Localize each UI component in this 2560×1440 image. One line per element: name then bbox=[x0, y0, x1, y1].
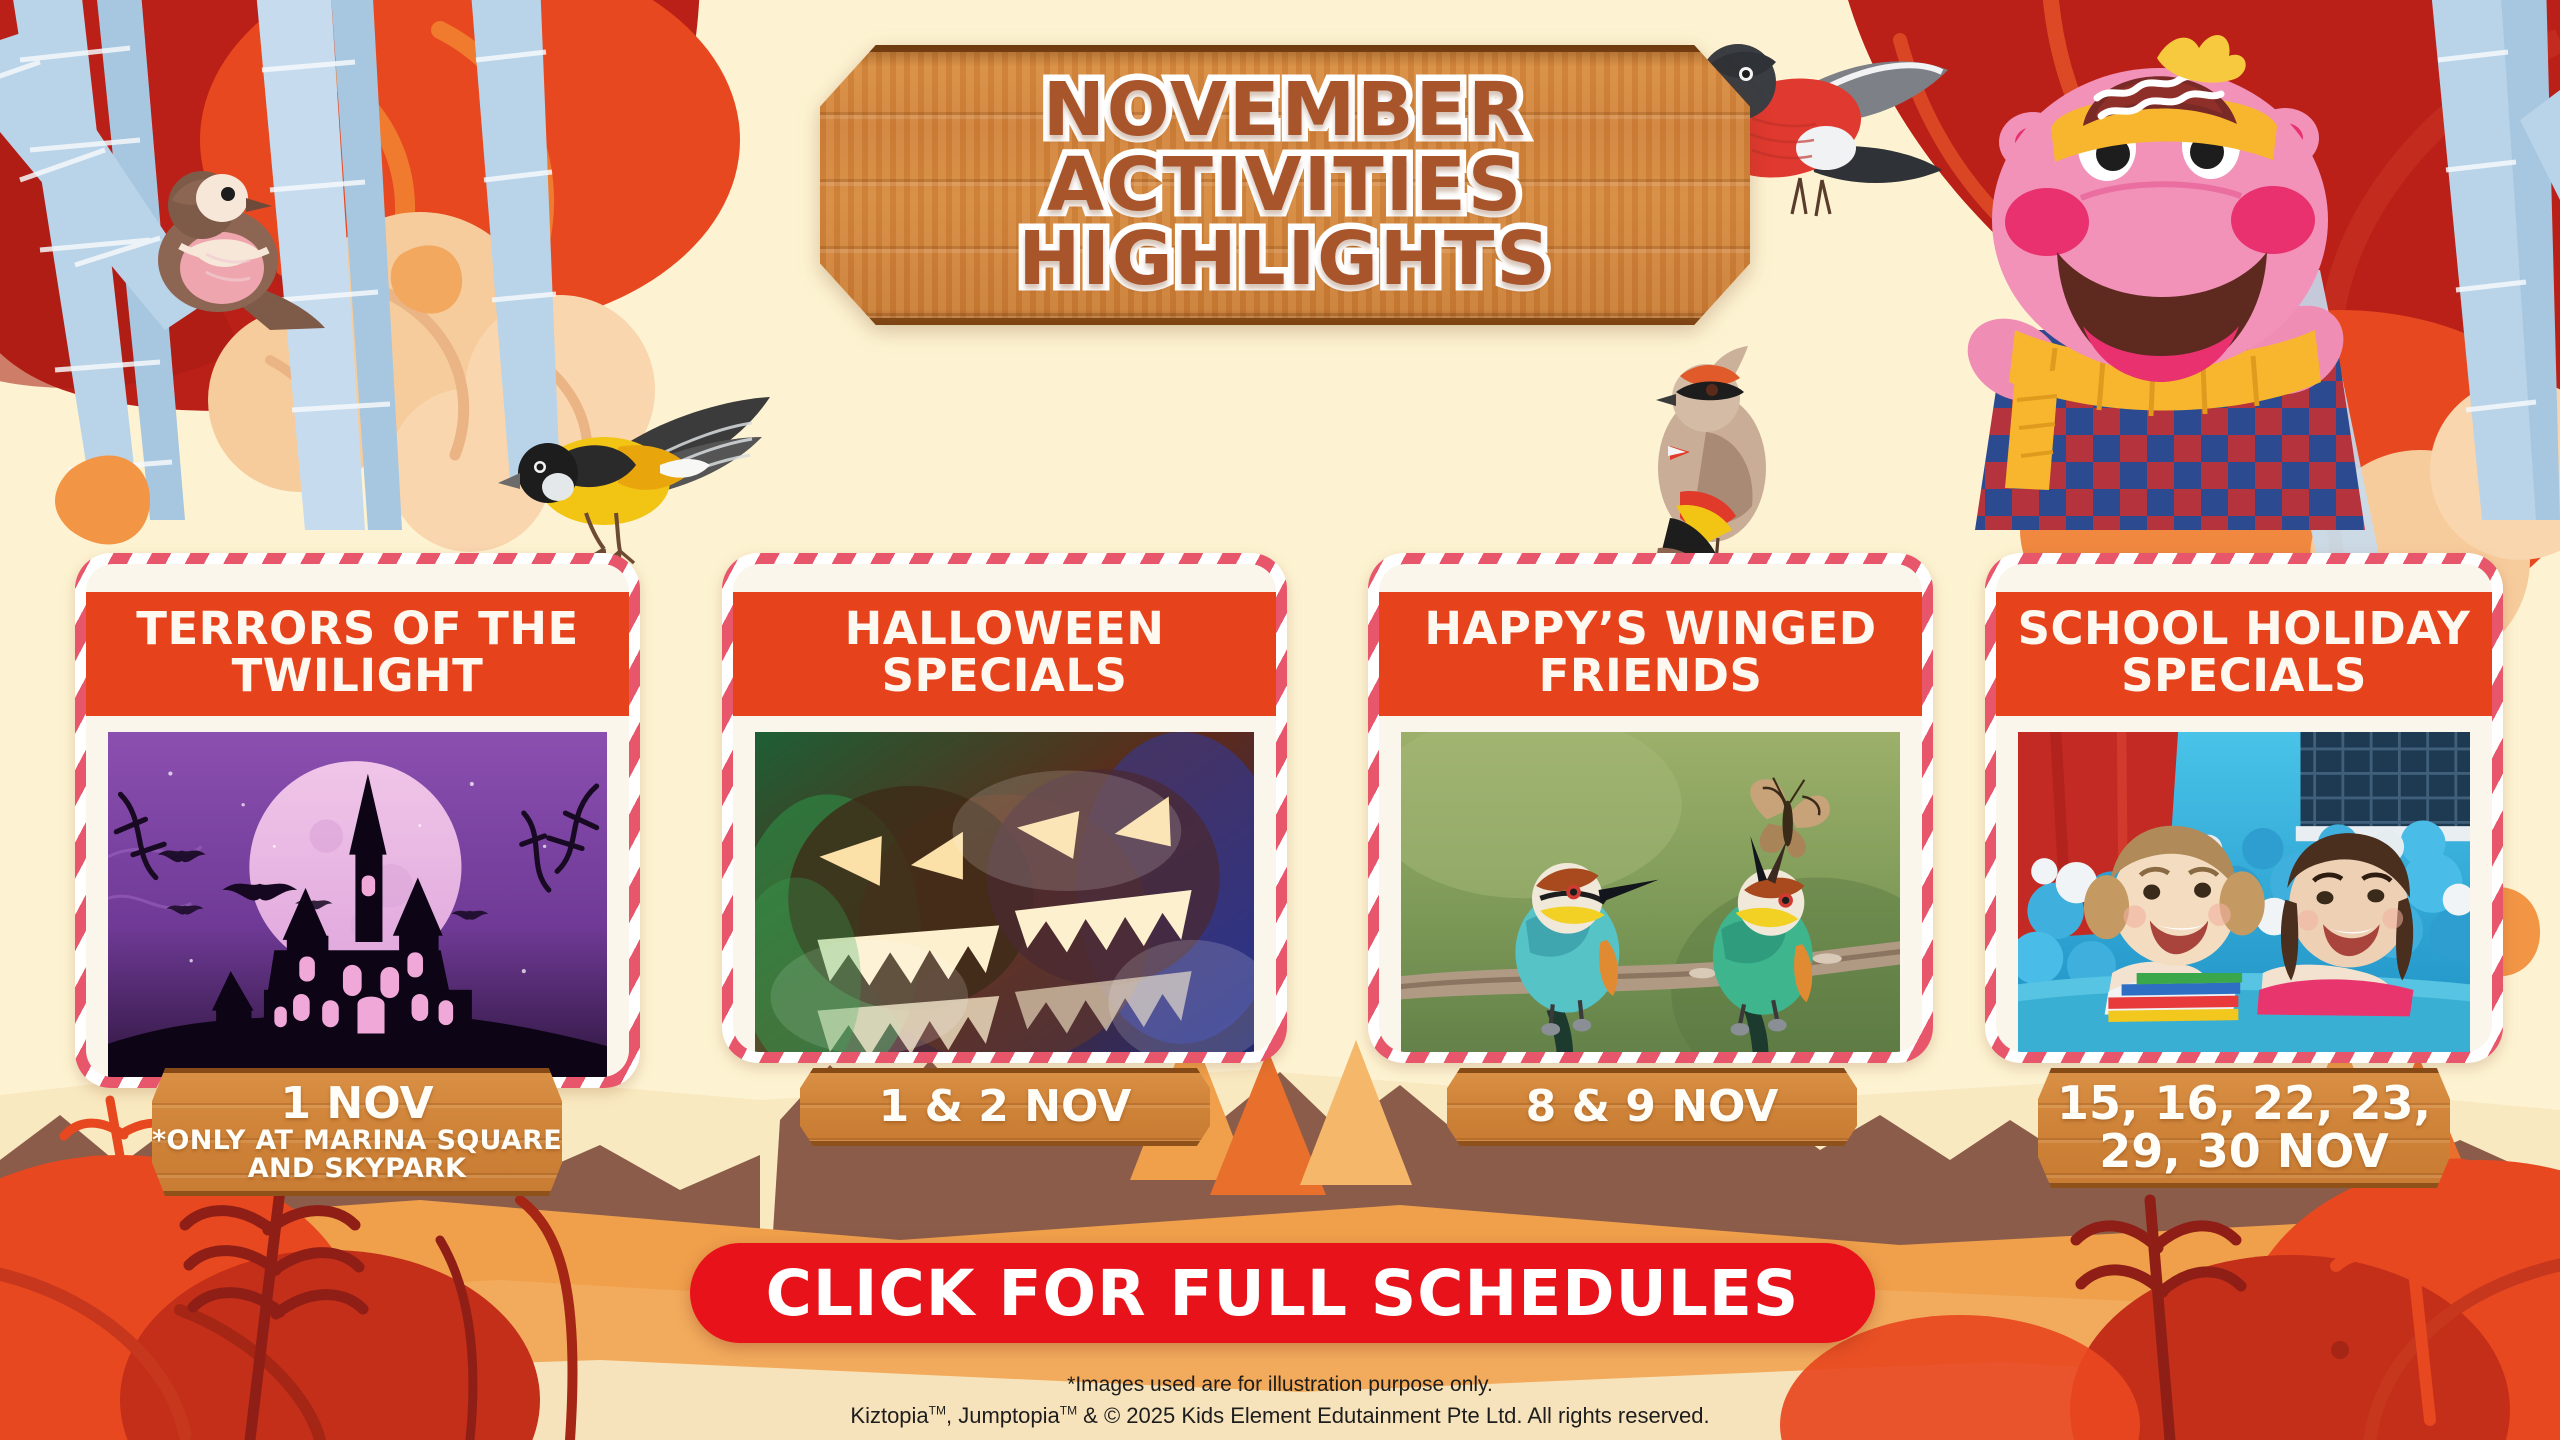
plaque-date: 1 NOV bbox=[280, 1078, 433, 1129]
footer-legal: *Images used are for illustration purpos… bbox=[0, 1370, 2560, 1432]
plaque-date: 8 & 9 NOV bbox=[1526, 1084, 1779, 1130]
plaque-date-line-1: 15, 16, 22, 23, bbox=[2057, 1080, 2431, 1128]
cta-label: CLICK FOR FULL SCHEDULES bbox=[766, 1257, 1800, 1330]
card-title: SCHOOL HOLIDAY SPECIALS bbox=[1996, 592, 2492, 716]
card-inner: HAPPY’S WINGED FRIENDS bbox=[1379, 564, 1922, 1052]
plaque-note-2: AND SKYPARK bbox=[152, 1155, 562, 1183]
activity-card-school-holiday-specials[interactable]: SCHOOL HOLIDAY SPECIALS bbox=[1985, 553, 2503, 1063]
card-photo-kids-ball-pit bbox=[2018, 732, 2470, 1052]
date-plaque-3: 8 & 9 NOV bbox=[1447, 1068, 1857, 1146]
card-photo-jack-o-lanterns bbox=[755, 732, 1254, 1052]
card-inner: HALLOWEEN SPECIALS bbox=[733, 564, 1276, 1052]
banner-root: NOVEMBER ACTIVITIES HIGHLIGHTS TERRORS O… bbox=[0, 0, 2560, 1440]
click-for-full-schedules-button[interactable]: CLICK FOR FULL SCHEDULES bbox=[690, 1243, 1875, 1343]
activity-card-halloween-specials[interactable]: HALLOWEEN SPECIALS bbox=[722, 553, 1287, 1063]
trademark-symbol-2: TM bbox=[1060, 1404, 1077, 1418]
card-title-line-1: TERRORS OF THE bbox=[96, 606, 619, 653]
footer-copyright: KiztopiaTM, JumptopiaTM & © 2025 Kids El… bbox=[0, 1400, 2560, 1432]
card-title-line-1: HALLOWEEN bbox=[743, 606, 1266, 653]
plaque-note-1: *ONLY AT MARINA SQUARE bbox=[152, 1127, 562, 1155]
date-plaque-1: 1 NOV *ONLY AT MARINA SQUARE AND SKYPARK bbox=[152, 1068, 562, 1196]
date-plaque-2: 1 & 2 NOV bbox=[800, 1068, 1210, 1146]
card-photo-wrap bbox=[733, 716, 1276, 1052]
card-title-line-2: SPECIALS bbox=[743, 653, 1266, 700]
footer-copyright-text: & © 2025 Kids Element Edutainment Pte Lt… bbox=[1077, 1403, 1710, 1428]
card-photo-wrap bbox=[86, 716, 629, 1077]
card-inner: TERRORS OF THE TWILIGHT bbox=[86, 564, 629, 1077]
activity-card-happys-winged-friends[interactable]: HAPPY’S WINGED FRIENDS bbox=[1368, 553, 1933, 1063]
card-title: HALLOWEEN SPECIALS bbox=[733, 592, 1276, 716]
card-photo-wrap bbox=[1996, 716, 2492, 1052]
card-inner: SCHOOL HOLIDAY SPECIALS bbox=[1996, 564, 2492, 1052]
footer-brand-sep: , Jumptopia bbox=[946, 1403, 1060, 1428]
footer-brand-1: Kiztopia bbox=[850, 1403, 928, 1428]
card-title-line-1: HAPPY’S WINGED bbox=[1389, 606, 1912, 653]
activity-cards: TERRORS OF THE TWILIGHT bbox=[0, 0, 2560, 1440]
card-title-line-2: TWILIGHT bbox=[96, 653, 619, 700]
plaque-date: 1 & 2 NOV bbox=[879, 1084, 1132, 1130]
trademark-symbol-1: TM bbox=[929, 1404, 946, 1418]
card-title: TERRORS OF THE TWILIGHT bbox=[86, 592, 629, 716]
card-photo-wrap bbox=[1379, 716, 1922, 1052]
card-title-line-2: FRIENDS bbox=[1389, 653, 1912, 700]
card-photo-bee-eaters bbox=[1401, 732, 1900, 1052]
activity-card-terrors-of-the-twilight[interactable]: TERRORS OF THE TWILIGHT bbox=[75, 553, 640, 1088]
card-title-line-2: SPECIALS bbox=[2006, 653, 2482, 700]
card-title: HAPPY’S WINGED FRIENDS bbox=[1379, 592, 1922, 716]
card-photo-haunted-house bbox=[108, 732, 607, 1077]
footer-images-disclaimer: *Images used are for illustration purpos… bbox=[0, 1370, 2560, 1400]
plaque-date-line-2: 29, 30 NOV bbox=[2057, 1128, 2431, 1176]
date-plaque-4: 15, 16, 22, 23, 29, 30 NOV bbox=[2038, 1068, 2450, 1188]
card-title-line-1: SCHOOL HOLIDAY bbox=[2006, 606, 2482, 653]
